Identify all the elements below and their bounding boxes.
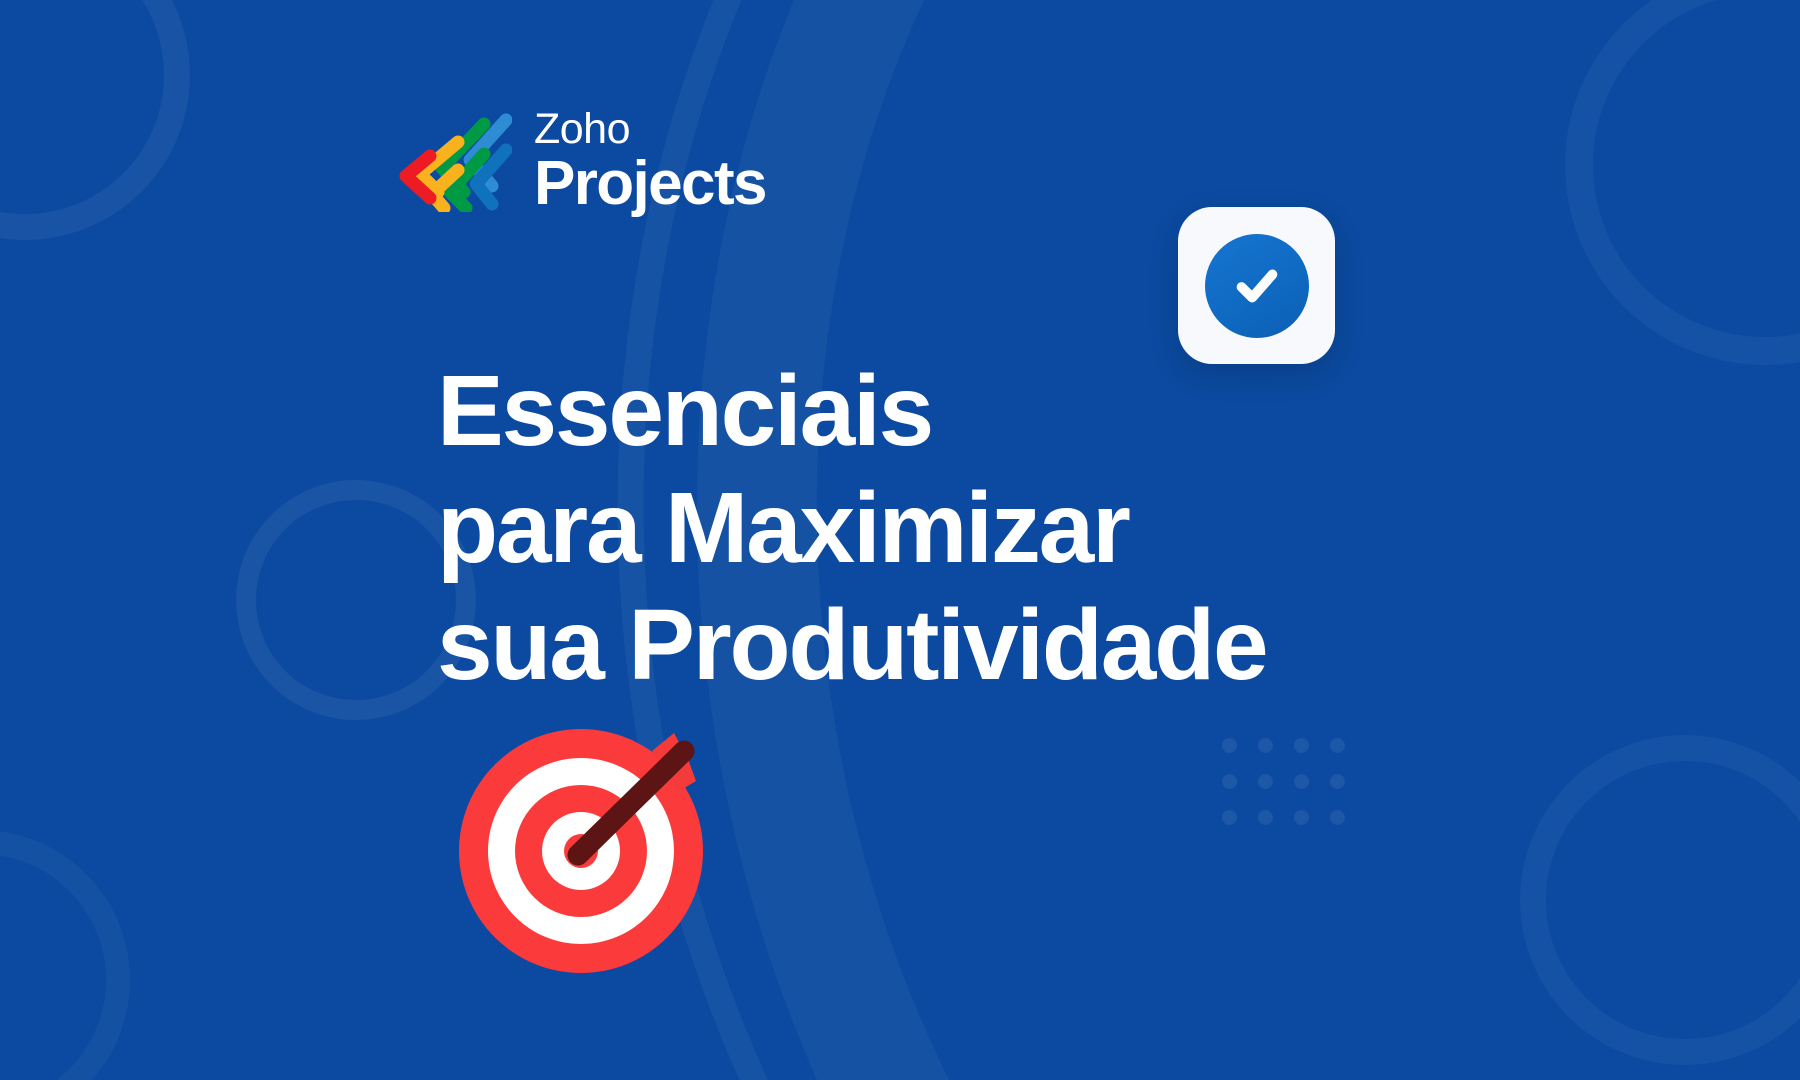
logo-wordmark: Zoho Projects [534,108,766,215]
decor-dot [1294,810,1309,825]
decor-dot [1258,810,1273,825]
decor-dot [1330,810,1345,825]
headline-line-2: para Maximizar [437,470,1457,587]
zoho-chevron-logo-icon [380,112,512,212]
promo-banner: Zoho Projects Essenciais para Maximizar … [0,0,1800,1080]
headline-line-3: sua Produtividade [437,587,1457,704]
decor-dot [1258,774,1273,789]
decor-dot [1294,774,1309,789]
zoho-projects-logo: Zoho Projects [380,108,766,215]
check-circle [1205,234,1309,338]
logo-product-name: Projects [534,153,766,215]
decor-dot [1330,738,1345,753]
decor-circle-top-right [1565,0,1800,365]
decor-dot [1294,738,1309,753]
decor-dot [1222,810,1237,825]
checkmark-icon [1226,255,1288,317]
decor-dot [1222,738,1237,753]
decor-circle-top-left [0,0,190,240]
decor-dot [1258,738,1273,753]
decor-circle-bottom-left [0,830,130,1080]
headline: Essenciais para Maximizar sua Produtivid… [437,353,1457,704]
logo-company-name: Zoho [534,108,766,151]
decor-circle-bottom-right [1520,735,1800,1065]
headline-line-1: Essenciais [437,353,1457,470]
target-with-arrow-icon [452,715,710,973]
check-badge-icon [1178,207,1335,364]
decor-dot [1222,774,1237,789]
decor-dot [1330,774,1345,789]
decor-dot-grid [1222,738,1366,846]
